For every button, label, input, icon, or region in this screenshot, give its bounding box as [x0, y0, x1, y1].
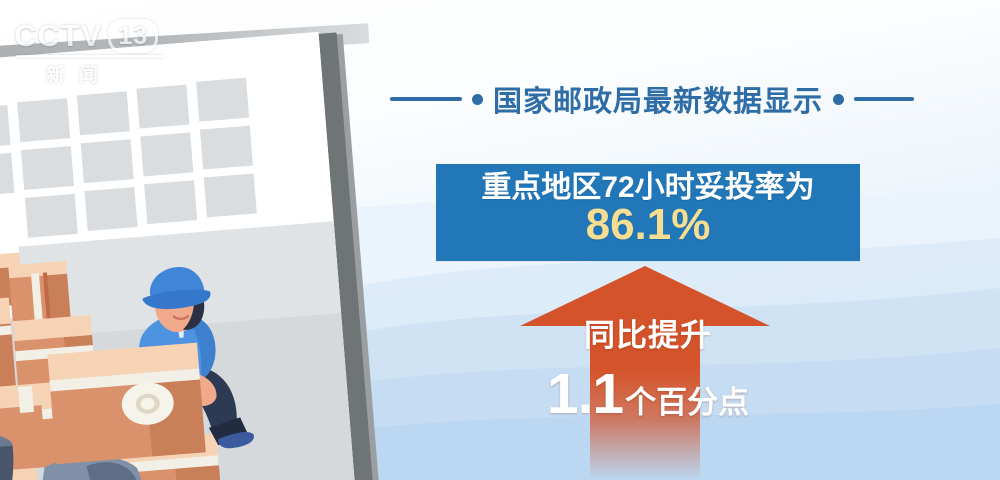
cctv13-watermark-logo: CCTV 13 新闻 [14, 18, 184, 78]
tape-roll-icon [118, 379, 178, 429]
watermark-subtitle: 新闻 [46, 60, 184, 87]
watermark-channel: CCTV [14, 18, 102, 54]
headline: 国家邮政局最新数据显示 [390, 78, 920, 120]
arrow-text-group: 同比提升 1.1 个百分点 [498, 264, 798, 480]
card-face [0, 32, 356, 480]
arrow-unit: 个百分点 [625, 377, 749, 422]
arrow-line2: 1.1 个百分点 [547, 367, 749, 422]
warehouse-illustration [0, 32, 356, 480]
watermark-rule [16, 55, 164, 58]
headline-right-rule [854, 97, 914, 101]
watermark-number: 13 [108, 19, 158, 53]
stat-box: 重点地区72小时妥投率为 86.1% [436, 164, 860, 261]
arrow-number: 1.1 [547, 367, 623, 421]
watermark-main: CCTV 13 [14, 18, 184, 54]
stat-value: 86.1% [586, 203, 711, 247]
illustration-card [0, 30, 380, 480]
arrow-line1: 同比提升 [584, 310, 712, 355]
headline-right-dot-icon [833, 94, 844, 105]
infographic-canvas: CCTV 13 新闻 国家邮政局最新数据显示 重点地区72小时妥投率为 86.1… [0, 0, 1000, 480]
growth-arrow: 同比提升 1.1 个百分点 [498, 264, 798, 480]
headline-left-rule [390, 97, 462, 101]
headline-text: 国家邮政局最新数据显示 [493, 78, 823, 120]
headline-left-dot-icon [472, 94, 483, 105]
